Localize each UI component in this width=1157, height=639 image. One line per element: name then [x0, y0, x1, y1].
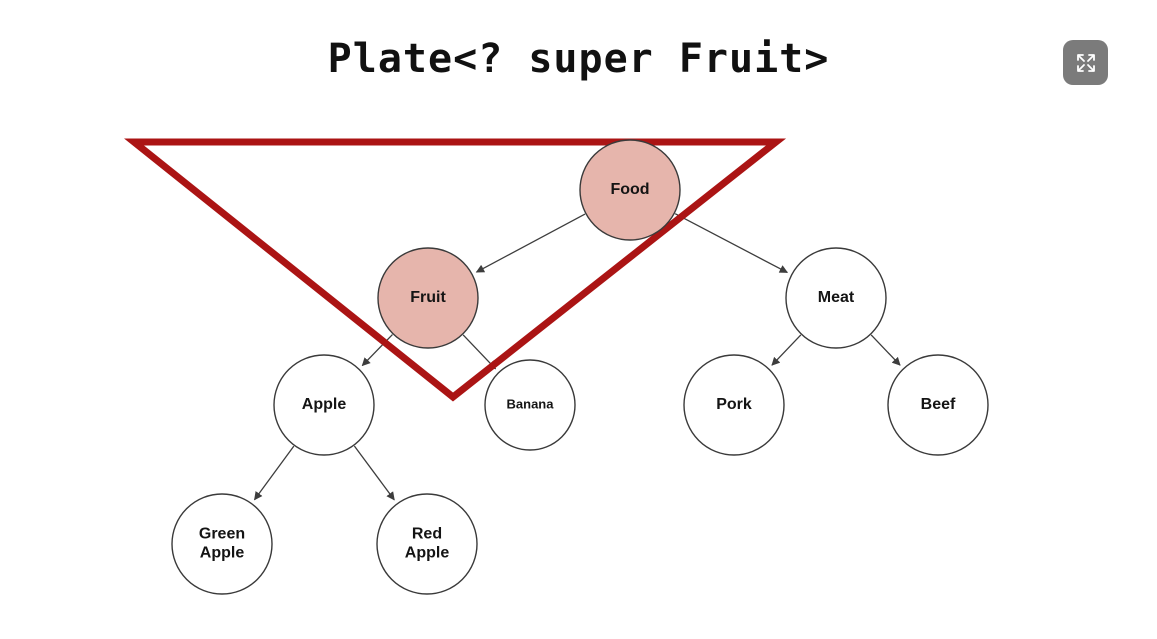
node-label-green-apple: Apple: [200, 545, 245, 562]
node-red-apple[interactable]: RedApple: [377, 494, 477, 594]
edge-apple-to-red-apple: [354, 446, 394, 500]
node-apple[interactable]: Apple: [274, 355, 374, 455]
node-label-red-apple: Apple: [405, 545, 450, 562]
node-banana[interactable]: Banana: [485, 360, 575, 450]
node-food[interactable]: Food: [580, 140, 680, 240]
node-label-food: Food: [610, 181, 649, 198]
node-label-apple: Apple: [302, 396, 347, 413]
diagram-canvas: Plate<? super Fruit>: [0, 0, 1157, 639]
edge-meat-to-pork: [772, 335, 801, 365]
edge-apple-to-green-apple: [255, 446, 294, 500]
edge-food-to-fruit: [477, 214, 586, 272]
node-label-green-apple: Green: [199, 526, 245, 543]
node-label-banana: Banana: [507, 396, 555, 411]
node-label-pork: Pork: [716, 396, 752, 413]
node-label-fruit: Fruit: [410, 289, 446, 306]
node-label-meat: Meat: [818, 289, 855, 306]
node-beef[interactable]: Beef: [888, 355, 988, 455]
node-label-beef: Beef: [921, 396, 956, 413]
edge-food-to-meat: [675, 214, 787, 273]
node-label-red-apple: Red: [412, 526, 442, 543]
edges-layer: [255, 214, 901, 500]
node-meat[interactable]: Meat: [786, 248, 886, 348]
node-pork[interactable]: Pork: [684, 355, 784, 455]
node-green-apple[interactable]: GreenApple: [172, 494, 272, 594]
node-fruit[interactable]: Fruit: [378, 248, 478, 348]
hierarchy-graph: FoodFruitMeatAppleBananaPorkBeefGreenApp…: [0, 0, 1157, 639]
nodes-layer: FoodFruitMeatAppleBananaPorkBeefGreenApp…: [172, 140, 988, 594]
edge-meat-to-beef: [871, 335, 900, 365]
